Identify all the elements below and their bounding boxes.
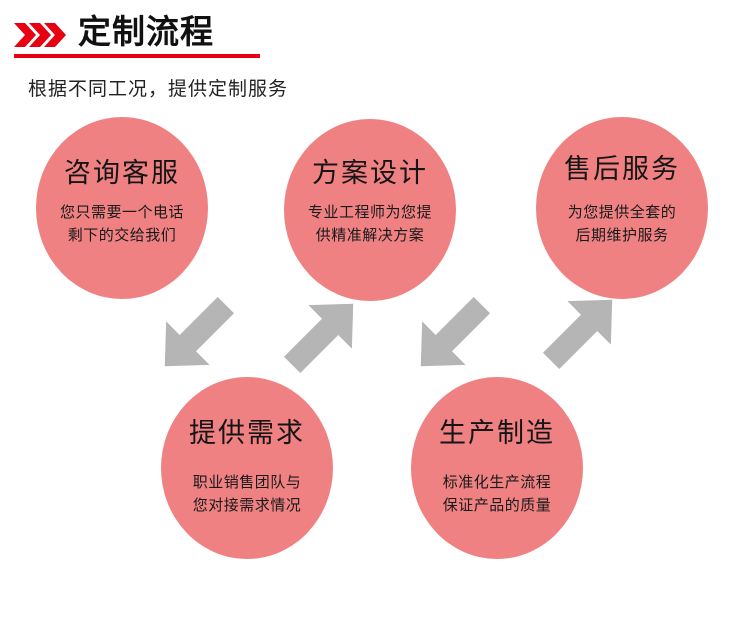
node-title: 售后服务 — [564, 155, 680, 185]
node-description-line: 标准化生产流程 — [443, 471, 552, 494]
node-description-line: 专业工程师为您提 — [308, 201, 432, 224]
title-row: 定制流程 — [14, 10, 214, 54]
node-title: 生产制造 — [439, 419, 555, 449]
node-description-line: 后期维护服务 — [568, 224, 677, 247]
node-title: 提供需求 — [189, 419, 305, 449]
node-title: 方案设计 — [312, 159, 428, 189]
flow-node-production-manufacturing[interactable]: 生产制造 标准化生产流程 保证产品的质量 — [411, 377, 583, 559]
node-description: 标准化生产流程 保证产品的质量 — [443, 471, 552, 517]
flow-diagram: 咨询客服 您只需要一个电话 剩下的交给我们 方案设计 专业工程师为您提 供精准解… — [0, 105, 750, 623]
node-description-line: 您只需要一个电话 — [60, 201, 184, 224]
node-description-line: 剩下的交给我们 — [60, 224, 184, 247]
custom-flow-infographic: 定制流程 根据不同工况，提供定制服务 咨询客服 您只需要一个电话 剩下的交给我们… — [0, 0, 750, 623]
node-description: 您只需要一个电话 剩下的交给我们 — [60, 201, 184, 247]
page-title: 定制流程 — [78, 12, 214, 52]
flow-node-consult-service[interactable]: 咨询客服 您只需要一个电话 剩下的交给我们 — [36, 117, 208, 299]
node-description: 专业工程师为您提 供精准解决方案 — [308, 201, 432, 247]
arrow-down-right-icon — [404, 287, 500, 383]
triple-chevron-right-icon — [14, 21, 66, 49]
page-subtitle: 根据不同工况，提供定制服务 — [28, 74, 288, 101]
node-description-line: 为您提供全套的 — [568, 201, 677, 224]
node-title: 咨询客服 — [64, 159, 180, 189]
header: 定制流程 根据不同工况，提供定制服务 — [0, 0, 750, 105]
arrow-up-right-icon — [274, 287, 370, 383]
node-description-line: 职业销售团队与 — [193, 471, 302, 494]
node-description: 职业销售团队与 您对接需求情况 — [193, 471, 302, 517]
title-underline — [14, 54, 260, 58]
arrow-down-right-icon — [148, 287, 244, 383]
node-description-line: 您对接需求情况 — [193, 494, 302, 517]
node-description-line: 供精准解决方案 — [308, 224, 432, 247]
flow-node-provide-requirements[interactable]: 提供需求 职业销售团队与 您对接需求情况 — [161, 377, 333, 559]
node-description: 为您提供全套的 后期维护服务 — [568, 201, 677, 247]
arrow-up-right-icon — [533, 283, 629, 379]
node-description-line: 保证产品的质量 — [443, 494, 552, 517]
flow-node-scheme-design[interactable]: 方案设计 专业工程师为您提 供精准解决方案 — [284, 119, 456, 301]
flow-node-after-sales-service[interactable]: 售后服务 为您提供全套的 后期维护服务 — [536, 117, 708, 299]
